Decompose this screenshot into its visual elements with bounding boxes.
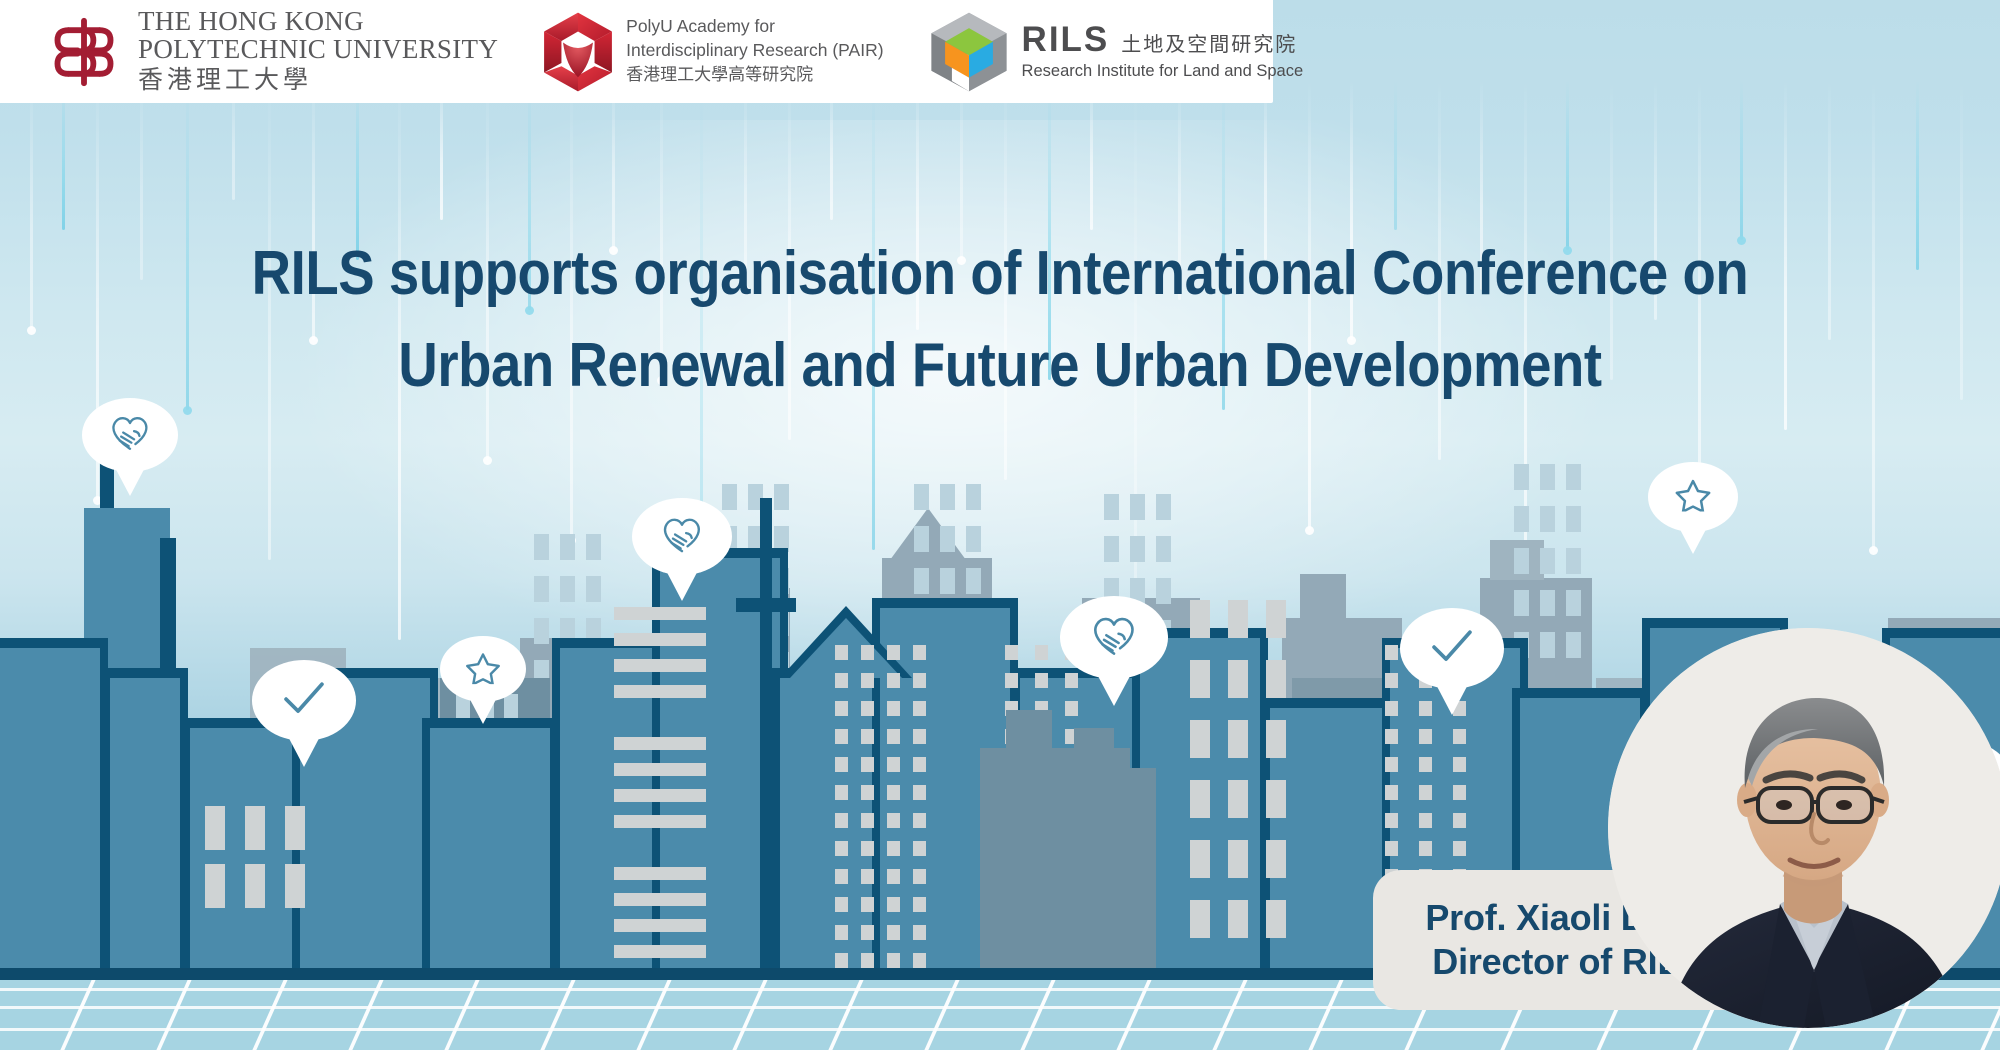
map-pin-heart-hand xyxy=(632,498,732,590)
pair-name-chinese: 香港理工大學高等研究院 xyxy=(626,63,883,89)
map-pin-check xyxy=(1400,608,1504,704)
rils-chinese: 土地及空間研究院 xyxy=(1121,28,1297,57)
speaker-portrait xyxy=(1608,628,2000,1028)
map-pin-heart-hand xyxy=(1060,596,1168,695)
pair-name-line1: PolyU Academy for xyxy=(626,14,883,38)
banner-title: RILS supports organisation of Internatio… xyxy=(0,228,2000,412)
banner-root: RILS supports organisation of Internatio… xyxy=(0,0,2000,1050)
map-pin-star xyxy=(440,636,526,715)
rils-subtitle: Research Institute for Land and Space xyxy=(1022,62,1304,81)
title-line-2: Urban Renewal and Future Urban Developme… xyxy=(120,320,1880,412)
logo-polyu-academy-interdisciplinary-research: PolyU Academy for Interdisciplinary Rese… xyxy=(542,11,883,93)
map-pin-star xyxy=(1648,462,1738,545)
title-line-1: RILS supports organisation of Internatio… xyxy=(120,228,1880,320)
pair-cube-icon xyxy=(542,11,614,93)
logo-research-institute-land-space: RILS 土地及空間研究院 Research Institute for Lan… xyxy=(926,11,1304,93)
pair-name-line2: Interdisciplinary Research (PAIR) xyxy=(626,38,883,62)
rils-cube-icon xyxy=(926,11,1012,93)
check-icon xyxy=(1428,626,1477,671)
heart-hand-icon xyxy=(660,514,705,560)
polyu-knot-icon xyxy=(44,13,124,91)
star-icon xyxy=(1676,478,1711,515)
rils-acronym: RILS xyxy=(1022,22,1110,57)
map-pin-check xyxy=(252,660,356,756)
logo-bar: THE HONG KONG POLYTECHNIC UNIVERSITY 香港理… xyxy=(0,0,1273,103)
logo-hk-polytechnic-university: THE HONG KONG POLYTECHNIC UNIVERSITY 香港理… xyxy=(44,8,498,96)
check-icon xyxy=(280,678,329,723)
polyu-name-chinese: 香港理工大學 xyxy=(138,65,498,95)
heart-hand-icon xyxy=(1089,612,1138,662)
polyu-name-line2: POLYTECHNIC UNIVERSITY xyxy=(138,36,498,64)
star-icon xyxy=(466,651,500,687)
polyu-name-line1: THE HONG KONG xyxy=(138,8,498,36)
heart-hand-icon xyxy=(108,413,152,457)
